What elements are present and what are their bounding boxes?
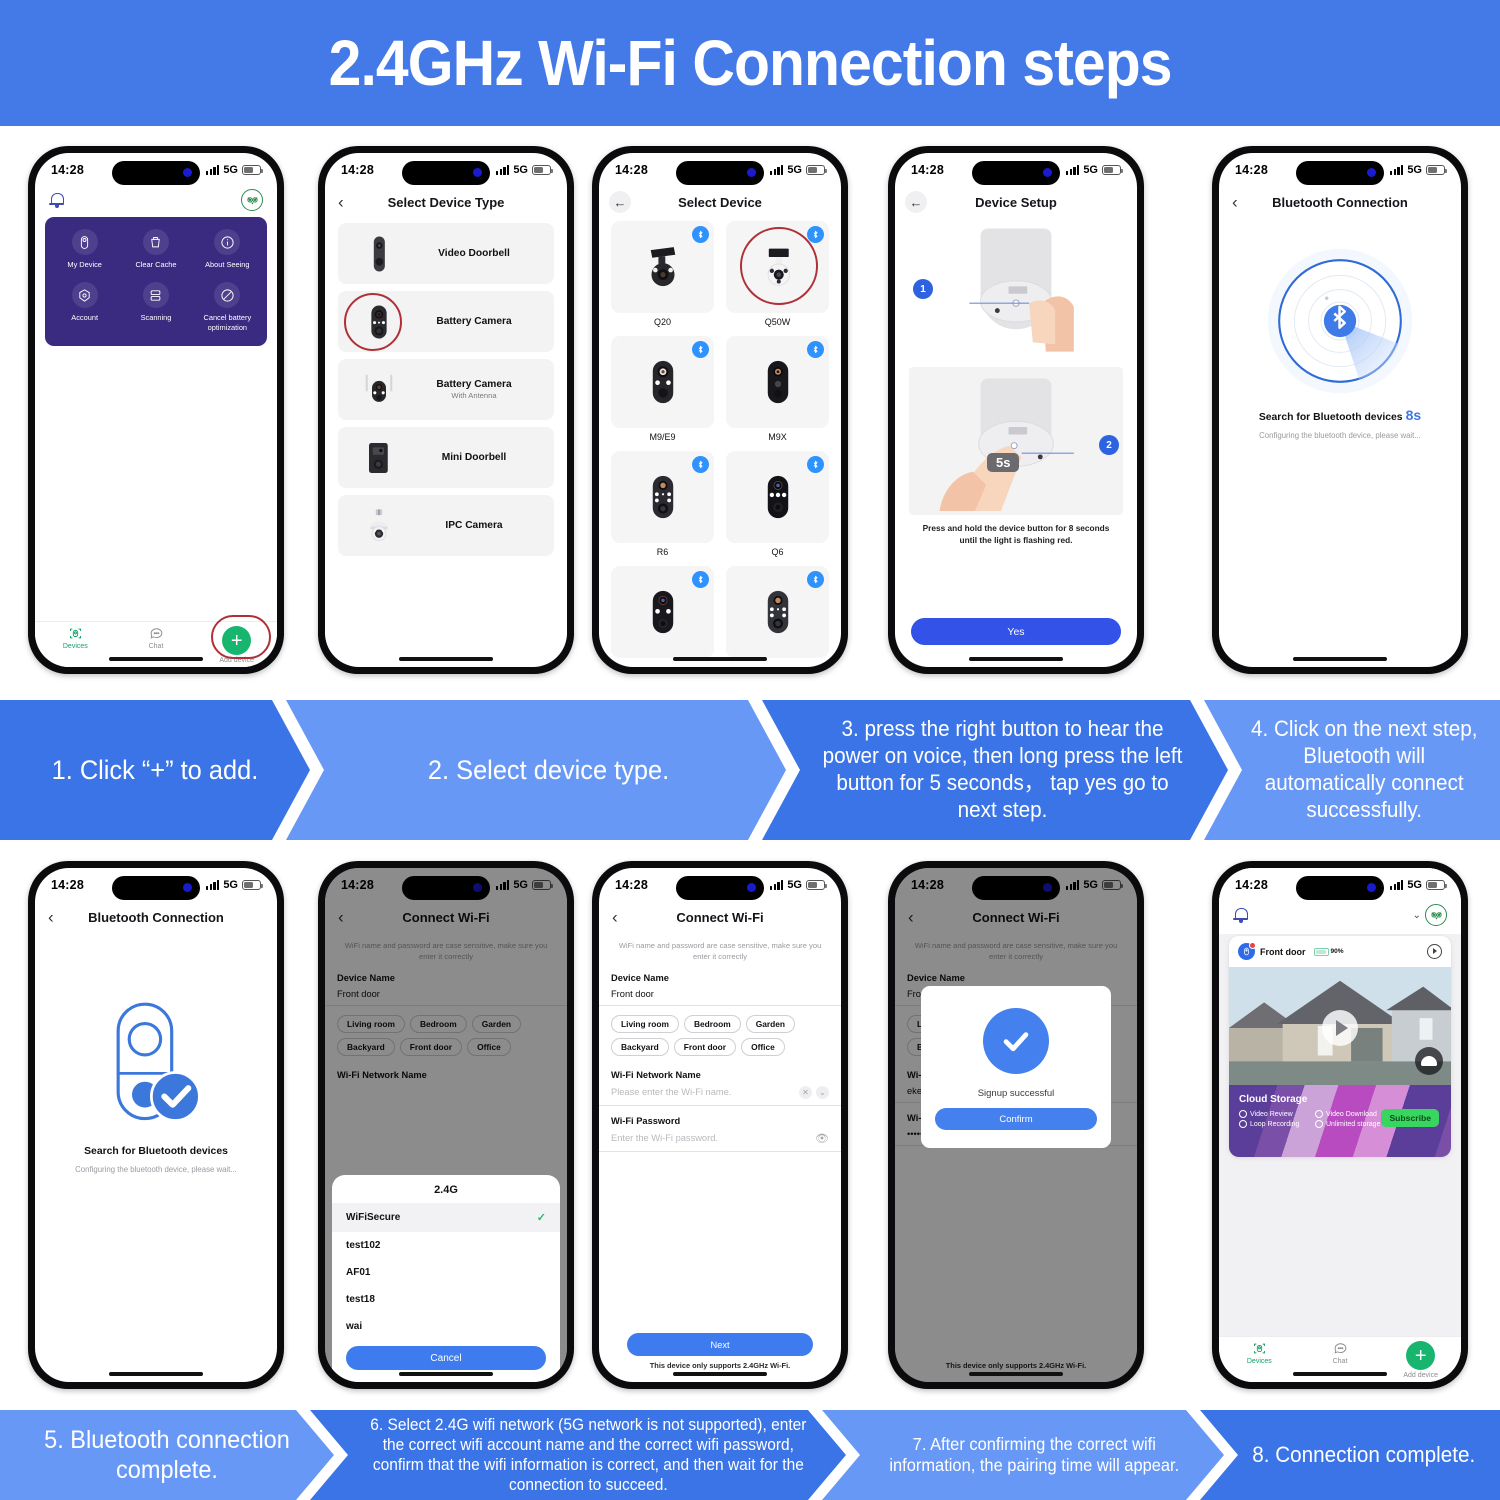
confirm-button[interactable]: Confirm <box>935 1108 1097 1130</box>
feature-item: Unlimited storage <box>1315 1120 1381 1128</box>
item-sub: With Antenna <box>410 391 538 400</box>
step-text: 4. Click on the next step, Bluetooth wil… <box>1213 716 1491 823</box>
step-arrows-top: 1. Click “+” to add. 2. Select device ty… <box>0 700 1500 840</box>
menu-label: Clear Cache <box>135 260 176 269</box>
infographic-page: 2.4GHz Wi-Fi Connection steps 14:28 5G <box>0 0 1500 1500</box>
tab-label: Chat <box>1333 1358 1348 1365</box>
device-name: Q50W <box>765 317 791 327</box>
step-text: 5. Bluetooth connection complete. <box>10 1425 324 1486</box>
setup-figure-2: 2 5s <box>909 367 1123 515</box>
home-header <box>35 187 277 217</box>
grid-item[interactable]: M9X <box>726 336 829 442</box>
phone-8-connect-wifi: 14:28 5G ‹ Connect Wi-Fi WiFi name and p… <box>592 861 848 1389</box>
network-label: 5G <box>787 879 802 891</box>
menu-item-clear-cache[interactable]: Clear Cache <box>120 229 191 269</box>
phone-9-signup-success: 14:28 5G ‹ Connect Wi-Fi WiFi name and p… <box>888 861 1144 1389</box>
bell-icon[interactable] <box>49 192 64 208</box>
battery-camera-antenna-thumb <box>348 362 410 418</box>
nav-bar: ‹ Bluetooth Connection <box>35 902 277 932</box>
sheet-title: 2.4G <box>332 1184 560 1203</box>
wifi-option[interactable]: test18 <box>332 1286 560 1313</box>
menu-item-my-device[interactable]: My Device <box>49 229 120 269</box>
subscribe-button[interactable]: Subscribe <box>1381 1109 1439 1127</box>
quick-menu-panel: My Device Clear Cache About Seeing <box>45 217 267 346</box>
grid-item[interactable]: R6 <box>611 451 714 557</box>
item-name: Battery Camera <box>410 316 538 327</box>
scan-icon <box>143 282 169 308</box>
screen-title: Select Device <box>678 195 762 210</box>
home-indicator <box>109 657 203 661</box>
device-grid: Q20 Q50W <box>599 217 841 662</box>
screen-title: Bluetooth Connection <box>88 910 224 925</box>
clear-icon[interactable]: ✕ <box>799 1086 812 1099</box>
grid-item[interactable]: Q50W <box>726 221 829 327</box>
back-icon[interactable]: ‹ <box>338 194 344 211</box>
signal-icon <box>1390 165 1403 175</box>
loop-icon <box>1239 1120 1247 1128</box>
room-chips: Living room Bedroom Garden Backyard Fron… <box>599 1006 841 1060</box>
camera-check-icon <box>96 996 216 1136</box>
back-icon[interactable]: ← <box>905 191 927 213</box>
screen-title: Device Setup <box>975 195 1057 210</box>
tab-add-device[interactable]: + Add device <box>196 626 277 664</box>
back-icon[interactable]: ← <box>609 191 631 213</box>
status-time: 14:28 <box>615 878 648 892</box>
chip-garden[interactable]: Garden <box>746 1015 795 1033</box>
nav-bar: ← Device Setup <box>895 187 1137 217</box>
dynamic-island <box>112 161 200 185</box>
network-label: 5G <box>1407 879 1422 891</box>
ssid-label: WiFiSecure <box>346 1212 400 1223</box>
step-arrow-5: 5. Bluetooth connection complete. <box>0 1410 334 1500</box>
phone-6-bluetooth-complete: 14:28 5G ‹ Bluetooth Connection <box>28 861 284 1389</box>
status-time: 14:28 <box>1235 878 1268 892</box>
list-item[interactable]: Battery Camera With Antenna <box>338 359 554 420</box>
wifi-name-field[interactable]: Please enter the Wi-Fi name. ✕ ⌄ <box>599 1080 841 1106</box>
ipc-camera-thumb <box>348 498 410 554</box>
device-name-label: Device Name <box>599 963 841 983</box>
back-icon[interactable]: ‹ <box>48 909 54 926</box>
network-label: 5G <box>223 879 238 891</box>
dynamic-island <box>1296 876 1384 900</box>
ptz-control-icon[interactable] <box>1415 1047 1443 1075</box>
step-arrow-2: 2. Select device type. <box>286 700 786 840</box>
menu-item-cancel-battery-optimization[interactable]: Cancel battery optimization <box>192 282 263 332</box>
device-name: Q6 <box>771 547 783 557</box>
list-header: ⌄ <box>1219 902 1461 934</box>
device-name-input[interactable]: Front door <box>599 983 841 1006</box>
dynamic-island <box>1296 161 1384 185</box>
chip-office[interactable]: Office <box>741 1038 785 1056</box>
no-entry-icon <box>214 282 240 308</box>
battery-icon <box>806 165 825 175</box>
bluetooth-icon <box>692 341 709 358</box>
battery-icon <box>1426 880 1445 890</box>
list-item[interactable]: Video Doorbell <box>338 223 554 284</box>
page-title: 2.4GHz Wi-Fi Connection steps <box>329 26 1172 100</box>
bluetooth-icon <box>807 226 824 243</box>
dynamic-island <box>402 161 490 185</box>
menu-item-about-seeing[interactable]: About Seeing <box>192 229 263 269</box>
step-text: 8. Connection complete. <box>1219 1442 1482 1469</box>
signal-icon <box>770 165 783 175</box>
signal-icon <box>206 880 219 890</box>
item-name: Battery Camera <box>410 379 538 390</box>
home-indicator <box>969 657 1063 661</box>
step-text: 3. press the right button to hear the po… <box>776 716 1214 823</box>
status-time: 14:28 <box>911 163 944 177</box>
cloud-feature-list: Video Review Video Download Loop Recordi… <box>1239 1110 1384 1128</box>
home-indicator <box>673 1372 767 1376</box>
history-icon[interactable] <box>1427 944 1442 959</box>
profile-avatar[interactable] <box>241 189 263 211</box>
battery-icon <box>806 880 825 890</box>
cloud-storage-banner[interactable]: Cloud Storage Video Review Video Downloa… <box>1229 1085 1451 1157</box>
wifi-option[interactable]: test102 <box>332 1232 560 1259</box>
phone-row-top: 14:28 5G <box>0 140 1500 680</box>
phone-5-bluetooth-search: 14:28 5G ‹ Bluetooth Connection <box>1212 146 1468 674</box>
status-time: 14:28 <box>1235 163 1268 177</box>
grid-item[interactable]: M9/E9 <box>611 336 714 442</box>
wifi-footnote: This device only supports 2.4GHz Wi-Fi. <box>599 1361 841 1370</box>
tab-label: Chat <box>149 643 164 650</box>
status-time: 14:28 <box>615 163 648 177</box>
setup-figure-1: 1 <box>909 217 1123 365</box>
trash-icon <box>143 229 169 255</box>
device-name: M9/E9 <box>649 432 675 442</box>
bluetooth-icon <box>807 456 824 473</box>
yes-button[interactable]: Yes <box>911 618 1121 645</box>
tab-label: Add device <box>219 657 254 664</box>
signal-icon <box>496 165 509 175</box>
phone-3-select-device: 14:28 5G ← Select Device <box>592 146 848 674</box>
menu-label: About Seeing <box>205 260 249 269</box>
nav-bar: ← Select Device <box>599 187 841 217</box>
tab-devices[interactable]: Devices <box>1219 1341 1300 1365</box>
back-icon[interactable]: ‹ <box>1232 194 1238 211</box>
chip-backyard[interactable]: Backyard <box>611 1038 669 1056</box>
bluetooth-icon <box>807 571 824 588</box>
dynamic-island <box>972 161 1060 185</box>
menu-label: Cancel battery optimization <box>195 313 259 332</box>
network-label: 5G <box>223 164 238 176</box>
phone-2-device-type: 14:28 5G ‹ Select Device Type <box>318 146 574 674</box>
device-icon <box>72 229 98 255</box>
device-name: R6 <box>657 547 669 557</box>
feature-label: Unlimited storage <box>1326 1121 1380 1128</box>
video-doorbell-thumb <box>348 226 410 282</box>
menu-label: Scanning <box>141 313 172 322</box>
bluetooth-subtext: Configuring the bluetooth device, please… <box>75 1165 237 1174</box>
home-indicator <box>399 657 493 661</box>
back-icon[interactable]: ‹ <box>612 909 618 926</box>
chevron-down-icon[interactable]: ⌄ <box>1413 910 1421 921</box>
menu-label: My Device <box>67 260 102 269</box>
bluetooth-icon <box>807 341 824 358</box>
clock-icon <box>1239 1110 1247 1118</box>
tab-add-device[interactable]: + Add device <box>1380 1341 1461 1379</box>
grid-item[interactable]: Q6 <box>726 451 829 557</box>
bell-icon[interactable] <box>1233 907 1248 923</box>
plus-icon[interactable]: + <box>1406 1341 1435 1370</box>
signal-icon <box>770 880 783 890</box>
network-label: 5G <box>1083 164 1098 176</box>
item-name: Video Doorbell <box>410 248 538 259</box>
screen-title: Select Device Type <box>388 195 505 210</box>
grid-item[interactable] <box>726 566 829 662</box>
mini-doorbell-thumb <box>348 430 410 486</box>
step-arrow-1: 1. Click “+” to add. <box>0 700 310 840</box>
home-indicator <box>1293 1372 1387 1376</box>
phone-7-wifi-picker: 14:28 5G ‹ Connect Wi-Fi WiFi name and p… <box>318 861 574 1389</box>
wifi-option[interactable]: WiFiSecure ✓ <box>332 1203 560 1232</box>
setup-illustrations: 1 2 5s <box>895 217 1137 546</box>
wifi-picker-sheet: 2.4G WiFiSecure ✓ test102 AF01 test18 <box>332 1175 560 1382</box>
chip-bedroom[interactable]: Bedroom <box>684 1015 741 1033</box>
grid-item[interactable] <box>611 566 714 662</box>
tab-label: Devices <box>63 643 88 650</box>
phone-10-device-list: 14:28 5G ⌄ <box>1212 861 1468 1389</box>
wifi-password-label: Wi-Fi Password <box>599 1106 841 1126</box>
device-name: Q20 <box>654 317 671 327</box>
step-text: 7. After confirming the correct wifi inf… <box>834 1434 1212 1477</box>
chip-living-room[interactable]: Living room <box>611 1015 679 1033</box>
menu-item-scanning[interactable]: Scanning <box>120 282 191 332</box>
info-icon <box>214 229 240 255</box>
cancel-button[interactable]: Cancel <box>346 1346 546 1370</box>
tab-label: Add device <box>1403 1372 1438 1379</box>
feature-label: Video Review <box>1250 1111 1293 1118</box>
tab-devices[interactable]: Devices <box>35 626 116 650</box>
feature-item: Loop Recording <box>1239 1120 1305 1128</box>
battery-icon <box>1426 165 1445 175</box>
chip-front-door[interactable]: Front door <box>674 1038 736 1056</box>
list-item[interactable]: IPC Camera <box>338 495 554 556</box>
cloud-title: Cloud Storage <box>1239 1094 1441 1105</box>
signal-icon <box>1390 880 1403 890</box>
screen-title: Connect Wi-Fi <box>676 910 763 925</box>
profile-avatar[interactable] <box>1425 904 1447 926</box>
list-item[interactable]: Battery Camera <box>338 291 554 352</box>
step-badge-2: 2 <box>1099 435 1119 455</box>
feature-label: Video Download <box>1326 1111 1377 1118</box>
wifi-option[interactable]: wai <box>332 1313 560 1340</box>
setup-instruction: Press and hold the device button for 8 s… <box>909 515 1123 546</box>
home-indicator <box>399 1372 493 1376</box>
signup-success-modal: Signup successful Confirm <box>921 986 1111 1148</box>
check-icon: ✓ <box>537 1211 546 1224</box>
plus-icon[interactable]: + <box>222 626 251 655</box>
bluetooth-status: Search for Bluetooth devices <box>84 1146 228 1157</box>
feature-item: Video Review <box>1239 1110 1305 1118</box>
screen-title: Bluetooth Connection <box>1272 195 1408 210</box>
step-arrow-8: 8. Connection complete. <box>1200 1410 1500 1500</box>
camera-preview[interactable] <box>1229 967 1451 1085</box>
network-label: 5G <box>513 164 528 176</box>
dynamic-island <box>676 161 764 185</box>
ssid-label: wai <box>346 1321 362 1332</box>
status-time: 14:28 <box>341 163 374 177</box>
device-card[interactable]: Front door 90% <box>1229 936 1451 1157</box>
battery-icon <box>1102 165 1121 175</box>
home-indicator <box>1293 657 1387 661</box>
infinity-icon <box>1315 1120 1323 1128</box>
camera-avatar-icon <box>1238 943 1255 960</box>
step-text: 6. Select 2.4G wifi network (5G network … <box>326 1415 830 1496</box>
tab-label: Devices <box>1247 1358 1272 1365</box>
nav-bar: ‹ Select Device Type <box>325 187 567 217</box>
bluetooth-status: Search for Bluetooth devices8s <box>1259 407 1421 423</box>
step-text: 2. Select device type. <box>394 754 678 787</box>
hold-duration-badge: 5s <box>987 453 1019 472</box>
account-icon <box>72 282 98 308</box>
wifi-password-placeholder: Enter the Wi-Fi password. <box>611 1133 815 1143</box>
network-label: 5G <box>787 164 802 176</box>
next-button[interactable]: Next <box>627 1333 813 1356</box>
dynamic-island <box>112 876 200 900</box>
bluetooth-success-illustration: Search for Bluetooth devices Configuring… <box>35 932 277 1174</box>
bluetooth-subtext: Configuring the bluetooth device, please… <box>1259 431 1421 440</box>
step-arrow-4: 4. Click on the next step, Bluetooth wil… <box>1204 700 1500 840</box>
phone-4-device-setup: 14:28 5G ← Device Setup <box>888 146 1144 674</box>
device-name: Front door <box>1260 947 1306 957</box>
bluetooth-radar: Search for Bluetooth devices8s Configuri… <box>1219 217 1461 440</box>
ssid-label: test102 <box>346 1240 380 1251</box>
modal-message: Signup successful <box>978 1088 1055 1099</box>
status-text: Search for Bluetooth devices <box>1259 412 1403 423</box>
countdown-timer: 8s <box>1406 407 1422 423</box>
nav-bar: ‹ Bluetooth Connection <box>1219 187 1461 217</box>
network-label: 5G <box>1407 164 1422 176</box>
status-time: 14:28 <box>51 878 84 892</box>
menu-item-account[interactable]: Account <box>49 282 120 332</box>
page-banner: 2.4GHz Wi-Fi Connection steps <box>0 0 1500 126</box>
ssid-label: test18 <box>346 1294 375 1305</box>
bluetooth-icon <box>692 226 709 243</box>
wifi-name-placeholder: Please enter the Wi-Fi name. <box>611 1087 795 1097</box>
tab-chat[interactable]: Chat <box>1300 1341 1381 1365</box>
wifi-password-field[interactable]: Enter the Wi-Fi password. 👁︎ <box>599 1126 841 1152</box>
chevron-down-icon[interactable]: ⌄ <box>816 1086 829 1099</box>
battery-icon <box>242 165 261 175</box>
device-card-header: Front door 90% <box>1229 936 1451 967</box>
download-icon <box>1315 1110 1323 1118</box>
status-time: 14:28 <box>51 163 84 177</box>
battery-percent: 90% <box>1331 948 1344 955</box>
battery-camera-thumb <box>348 294 410 350</box>
step-arrows-bottom: 5. Bluetooth connection complete. 6. Sel… <box>0 1410 1500 1500</box>
step-arrow-6: 6. Select 2.4G wifi network (5G network … <box>310 1410 846 1500</box>
feature-label: Loop Recording <box>1250 1121 1299 1128</box>
step-badge-1: 1 <box>913 279 933 299</box>
step-text: 1. Click “+” to add. <box>42 754 267 787</box>
bluetooth-icon <box>692 456 709 473</box>
battery-icon <box>242 880 261 890</box>
radar-icon <box>1264 245 1416 397</box>
phone-1-home: 14:28 5G <box>28 146 284 674</box>
item-name: IPC Camera <box>410 520 538 531</box>
feature-item: Video Download <box>1315 1110 1381 1118</box>
battery-indicator: 90% <box>1314 948 1344 956</box>
battery-icon <box>532 165 551 175</box>
grid-item[interactable]: Q20 <box>611 221 714 327</box>
ssid-label: AF01 <box>346 1267 370 1278</box>
nav-bar: ‹ Connect Wi-Fi <box>599 902 841 932</box>
success-check-icon <box>983 1008 1049 1074</box>
step-arrow-7: 7. After confirming the correct wifi inf… <box>822 1410 1224 1500</box>
tab-chat[interactable]: Chat <box>116 626 197 650</box>
dynamic-island <box>676 876 764 900</box>
wifi-name-label: Wi-Fi Network Name <box>599 1060 841 1080</box>
eye-off-icon[interactable]: 👁︎ <box>815 1132 829 1145</box>
device-type-list: Video Doorbell Battery Camera <box>325 217 567 556</box>
wifi-hint: WiFi name and password are case sensitiv… <box>599 932 841 963</box>
signal-icon <box>206 165 219 175</box>
bluetooth-icon <box>692 571 709 588</box>
play-icon[interactable] <box>1322 1010 1358 1046</box>
device-name: M9X <box>768 432 787 442</box>
signal-icon <box>1066 165 1079 175</box>
phone-row-bottom: 14:28 5G ‹ Bluetooth Connection <box>0 855 1500 1395</box>
step-arrow-3: 3. press the right button to hear the po… <box>762 700 1228 840</box>
home-indicator <box>673 657 767 661</box>
home-indicator <box>109 1372 203 1376</box>
list-item[interactable]: Mini Doorbell <box>338 427 554 488</box>
home-indicator <box>969 1372 1063 1376</box>
wifi-option[interactable]: AF01 <box>332 1259 560 1286</box>
menu-label: Account <box>71 313 98 322</box>
item-name: Mini Doorbell <box>410 452 538 463</box>
